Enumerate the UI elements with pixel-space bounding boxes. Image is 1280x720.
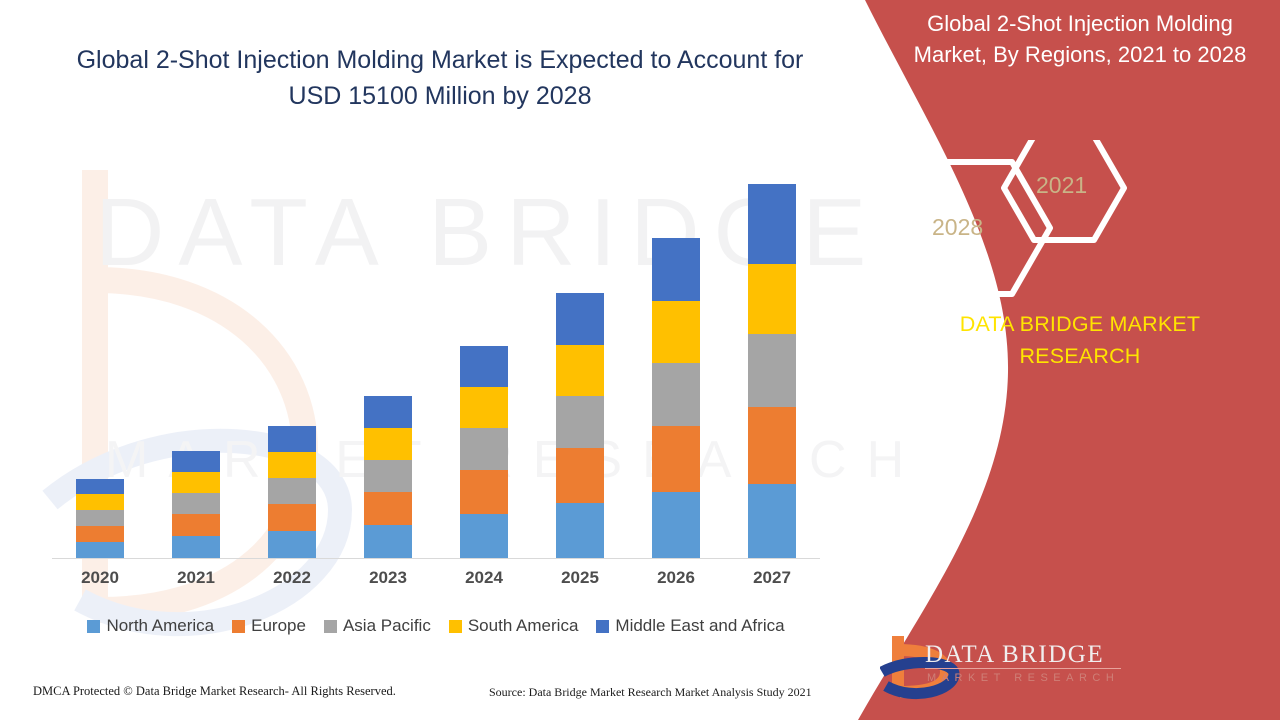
page-title: Global 2-Shot Injection Molding Market i… xyxy=(60,42,820,114)
legend-item[interactable]: Europe xyxy=(232,616,306,636)
bar-segment xyxy=(748,264,796,334)
x-axis-label: 2020 xyxy=(52,568,148,588)
bar-segment xyxy=(556,396,604,448)
bar-segment xyxy=(76,494,124,510)
legend-item[interactable]: Middle East and Africa xyxy=(596,616,784,636)
bar-segment xyxy=(268,452,316,478)
legend-swatch xyxy=(596,620,609,633)
bar-segment xyxy=(652,363,700,426)
bar-segment xyxy=(652,426,700,492)
bar-segment xyxy=(172,493,220,514)
bar-column xyxy=(532,120,628,558)
x-axis-labels: 20202021202220232024202520262027 xyxy=(52,568,820,588)
legend-label: North America xyxy=(106,616,214,636)
hexagon-badges: 2028 2021 xyxy=(880,140,1280,300)
stacked-bar xyxy=(76,479,124,558)
bar-segment xyxy=(556,448,604,503)
stacked-bar xyxy=(460,346,508,558)
chart-legend: North AmericaEuropeAsia PacificSouth Ame… xyxy=(52,616,820,636)
stacked-bar xyxy=(172,451,220,558)
legend-label: Europe xyxy=(251,616,306,636)
bar-segment xyxy=(460,428,508,470)
hexagon-2021-label: 2021 xyxy=(1036,172,1087,199)
bar-column xyxy=(52,120,148,558)
bar-segment xyxy=(460,387,508,428)
legend-label: South America xyxy=(468,616,579,636)
stacked-bar xyxy=(748,184,796,558)
logo-text-sub: MARKET RESEARCH xyxy=(927,672,1119,684)
bar-segment xyxy=(364,460,412,492)
bar-segment xyxy=(364,428,412,460)
bar-segment xyxy=(172,451,220,472)
legend-item[interactable]: North America xyxy=(87,616,214,636)
brand-line-2: RESEARCH xyxy=(1019,344,1140,368)
bar-segment xyxy=(652,238,700,301)
legend-label: Asia Pacific xyxy=(343,616,431,636)
x-axis-label: 2024 xyxy=(436,568,532,588)
legend-swatch xyxy=(324,620,337,633)
bar-column xyxy=(148,120,244,558)
bar-segment xyxy=(172,472,220,493)
bar-segment xyxy=(364,492,412,525)
bar-segment xyxy=(460,346,508,387)
bar-segment xyxy=(268,504,316,531)
bar-segment xyxy=(172,536,220,558)
bar-segment xyxy=(76,526,124,542)
bar-column xyxy=(628,120,724,558)
x-axis-label: 2026 xyxy=(628,568,724,588)
stacked-bar xyxy=(364,396,412,558)
bar-segment xyxy=(364,396,412,428)
bar-segment xyxy=(748,184,796,264)
logo-divider xyxy=(925,668,1121,669)
bar-segment xyxy=(76,510,124,526)
bar-segment xyxy=(652,492,700,558)
bar-segment xyxy=(748,484,796,558)
bar-segment xyxy=(268,478,316,504)
stacked-bar xyxy=(268,426,316,558)
stacked-bar xyxy=(556,293,604,558)
x-axis-label: 2023 xyxy=(340,568,436,588)
legend-swatch xyxy=(87,620,100,633)
bar-segment xyxy=(268,531,316,558)
bar-column xyxy=(436,120,532,558)
bar-segment xyxy=(364,525,412,558)
infographic-canvas: DATA BRIDGE MARKET RESEARCH Global 2-Sho… xyxy=(0,0,1280,720)
bar-segment xyxy=(268,426,316,452)
legend-swatch xyxy=(232,620,245,633)
stacked-bar-chart xyxy=(52,120,820,558)
x-axis-label: 2022 xyxy=(244,568,340,588)
hexagon-2028-label: 2028 xyxy=(932,214,983,241)
bar-segment xyxy=(556,345,604,396)
legend-label: Middle East and Africa xyxy=(615,616,784,636)
bar-segment xyxy=(172,514,220,536)
bar-column xyxy=(340,120,436,558)
panel-title: Global 2-Shot Injection Molding Market, … xyxy=(890,8,1270,70)
legend-item[interactable]: Asia Pacific xyxy=(324,616,431,636)
red-panel-content: Global 2-Shot Injection Molding Market, … xyxy=(880,0,1280,720)
bar-column xyxy=(724,120,820,558)
bar-segment xyxy=(460,514,508,558)
legend-swatch xyxy=(449,620,462,633)
footer-copyright: DMCA Protected © Data Bridge Market Rese… xyxy=(33,684,396,699)
bar-segment xyxy=(748,334,796,407)
bar-segment xyxy=(748,407,796,484)
brand-line-1: DATA BRIDGE MARKET xyxy=(960,312,1201,336)
bar-segment xyxy=(652,301,700,363)
bar-column xyxy=(244,120,340,558)
legend-item[interactable]: South America xyxy=(449,616,579,636)
x-axis-label: 2025 xyxy=(532,568,628,588)
bar-segment xyxy=(556,503,604,558)
bar-segment xyxy=(76,479,124,494)
x-axis-label: 2021 xyxy=(148,568,244,588)
bar-segment xyxy=(76,542,124,558)
x-axis-label: 2027 xyxy=(724,568,820,588)
bar-segment xyxy=(460,470,508,514)
x-axis-line xyxy=(52,558,820,559)
stacked-bar xyxy=(652,238,700,558)
footer-source: Source: Data Bridge Market Research Mark… xyxy=(489,685,812,700)
brand-name: DATA BRIDGE MARKET RESEARCH xyxy=(880,308,1280,372)
logo-text-main: DATA BRIDGE xyxy=(925,641,1104,669)
bar-segment xyxy=(556,293,604,345)
